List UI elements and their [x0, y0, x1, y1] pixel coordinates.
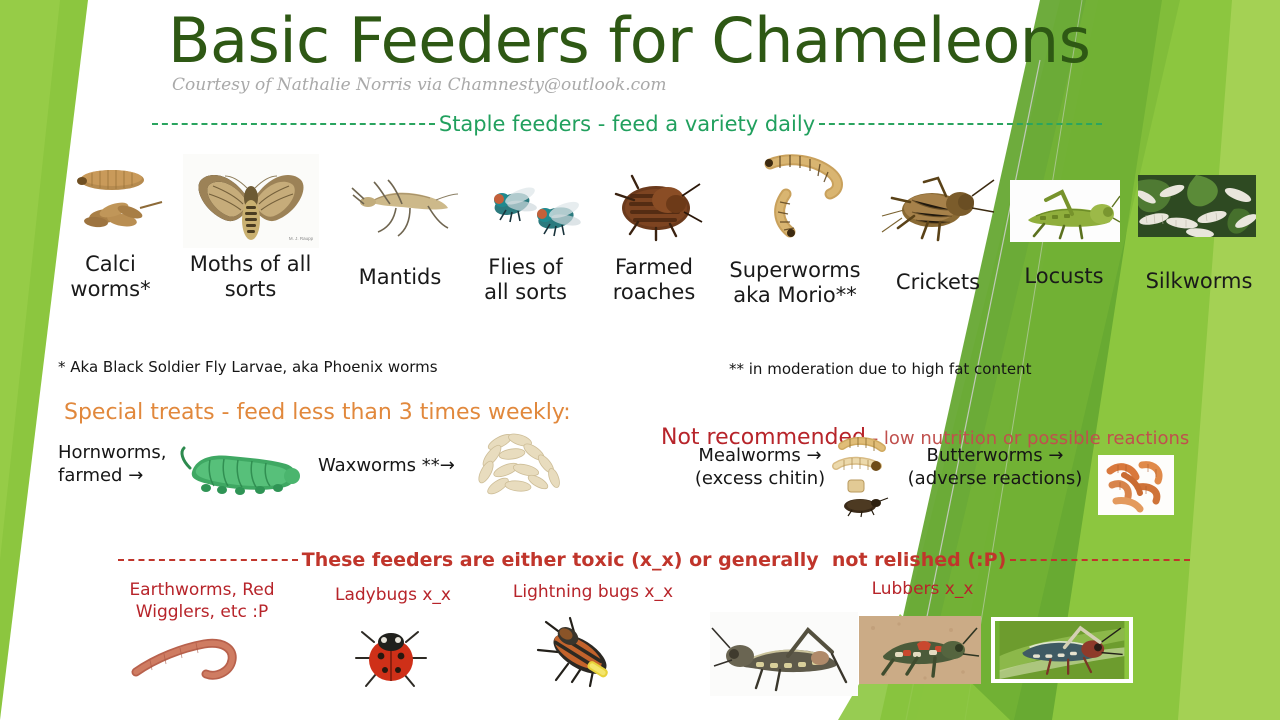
footnote-double-asterisk: ** in moderation due to high fat content: [729, 360, 1031, 378]
butterworm-photo: [1098, 455, 1174, 515]
staple-label-roaches: Farmed roaches: [598, 255, 710, 305]
toxic-section-header: These feeders are either toxic (x_x) or …: [118, 549, 1190, 571]
notrec-label-butterworms: Butterworms → (adverse reactions): [905, 445, 1085, 490]
toxic-label-ladybugs: Ladybugs x_x: [318, 584, 468, 606]
slide-canvas: Basic Feeders for Chameleons Courtesy of…: [0, 0, 1280, 720]
dashed-rule-left: [152, 123, 435, 125]
mantid-photo: [350, 162, 460, 246]
treats-label-waxworms: Waxworms **→: [318, 455, 468, 478]
superworm-photo: [756, 150, 854, 242]
waxworm-photo: [466, 428, 570, 500]
toxic-label-lightning-bugs: Lightning bugs x_x: [498, 581, 688, 603]
credit-line: Courtesy of Nathalie Norris via Chamnest…: [172, 76, 667, 95]
footnote-single-asterisk: * Aka Black Soldier Fly Larvae, aka Phoe…: [58, 358, 438, 376]
hornworm-photo: [176, 438, 306, 496]
special-treats-heading: Special treats - feed less than 3 times …: [64, 401, 571, 426]
staple-section-header: Staple feeders - feed a variety daily: [152, 112, 1102, 136]
lubber-photo: [710, 612, 858, 696]
dashed-rule-red-right: [1010, 559, 1190, 561]
dashed-rule-red-left: [118, 559, 298, 561]
notrec-label-mealworms: Mealworms → (excess chitin): [680, 445, 840, 490]
toxic-heading-label: These feeders are either toxic (x_x) or …: [298, 549, 1011, 571]
flies-photo: [484, 176, 594, 242]
staple-label-locusts: Locusts: [1008, 264, 1120, 289]
earthworm-photo: [130, 632, 260, 694]
staple-label-crickets: Crickets: [878, 270, 998, 295]
toxic-label-lubbers: Lubbers x_x: [855, 578, 990, 600]
locust-photo: [1010, 180, 1120, 242]
staple-label-silkworms: Silkworms: [1138, 269, 1260, 294]
calci-worm-photo: [70, 158, 174, 238]
staple-label-mantids: Mantids: [340, 265, 460, 290]
staple-label-moths: Moths of all sorts: [188, 252, 313, 302]
staple-label-flies: Flies of all sorts: [473, 255, 578, 305]
ladybug-photo: [354, 620, 428, 692]
lubber-photo: [859, 616, 981, 684]
cricket-photo: [880, 166, 996, 246]
svg-text:M. J. Raupp: M. J. Raupp: [289, 236, 314, 241]
firefly-photo: [528, 612, 632, 694]
dashed-rule-right: [819, 123, 1102, 125]
page-title: Basic Feeders for Chameleons: [168, 6, 1090, 75]
moth-photo: M. J. Raupp: [183, 154, 319, 248]
staple-heading-label: Staple feeders - feed a variety daily: [435, 112, 819, 136]
mealworm-photo: [826, 432, 896, 520]
toxic-label-earthworms: Earthworms, Red Wigglers, etc :P: [112, 579, 292, 623]
roach-photo: [604, 170, 708, 242]
lubber-photo: [991, 617, 1133, 683]
staple-label-superworms: Superworms aka Morio**: [724, 258, 866, 308]
staple-label-calci-worms: Calci worms*: [58, 252, 163, 302]
silkworm-photo: [1138, 175, 1256, 237]
